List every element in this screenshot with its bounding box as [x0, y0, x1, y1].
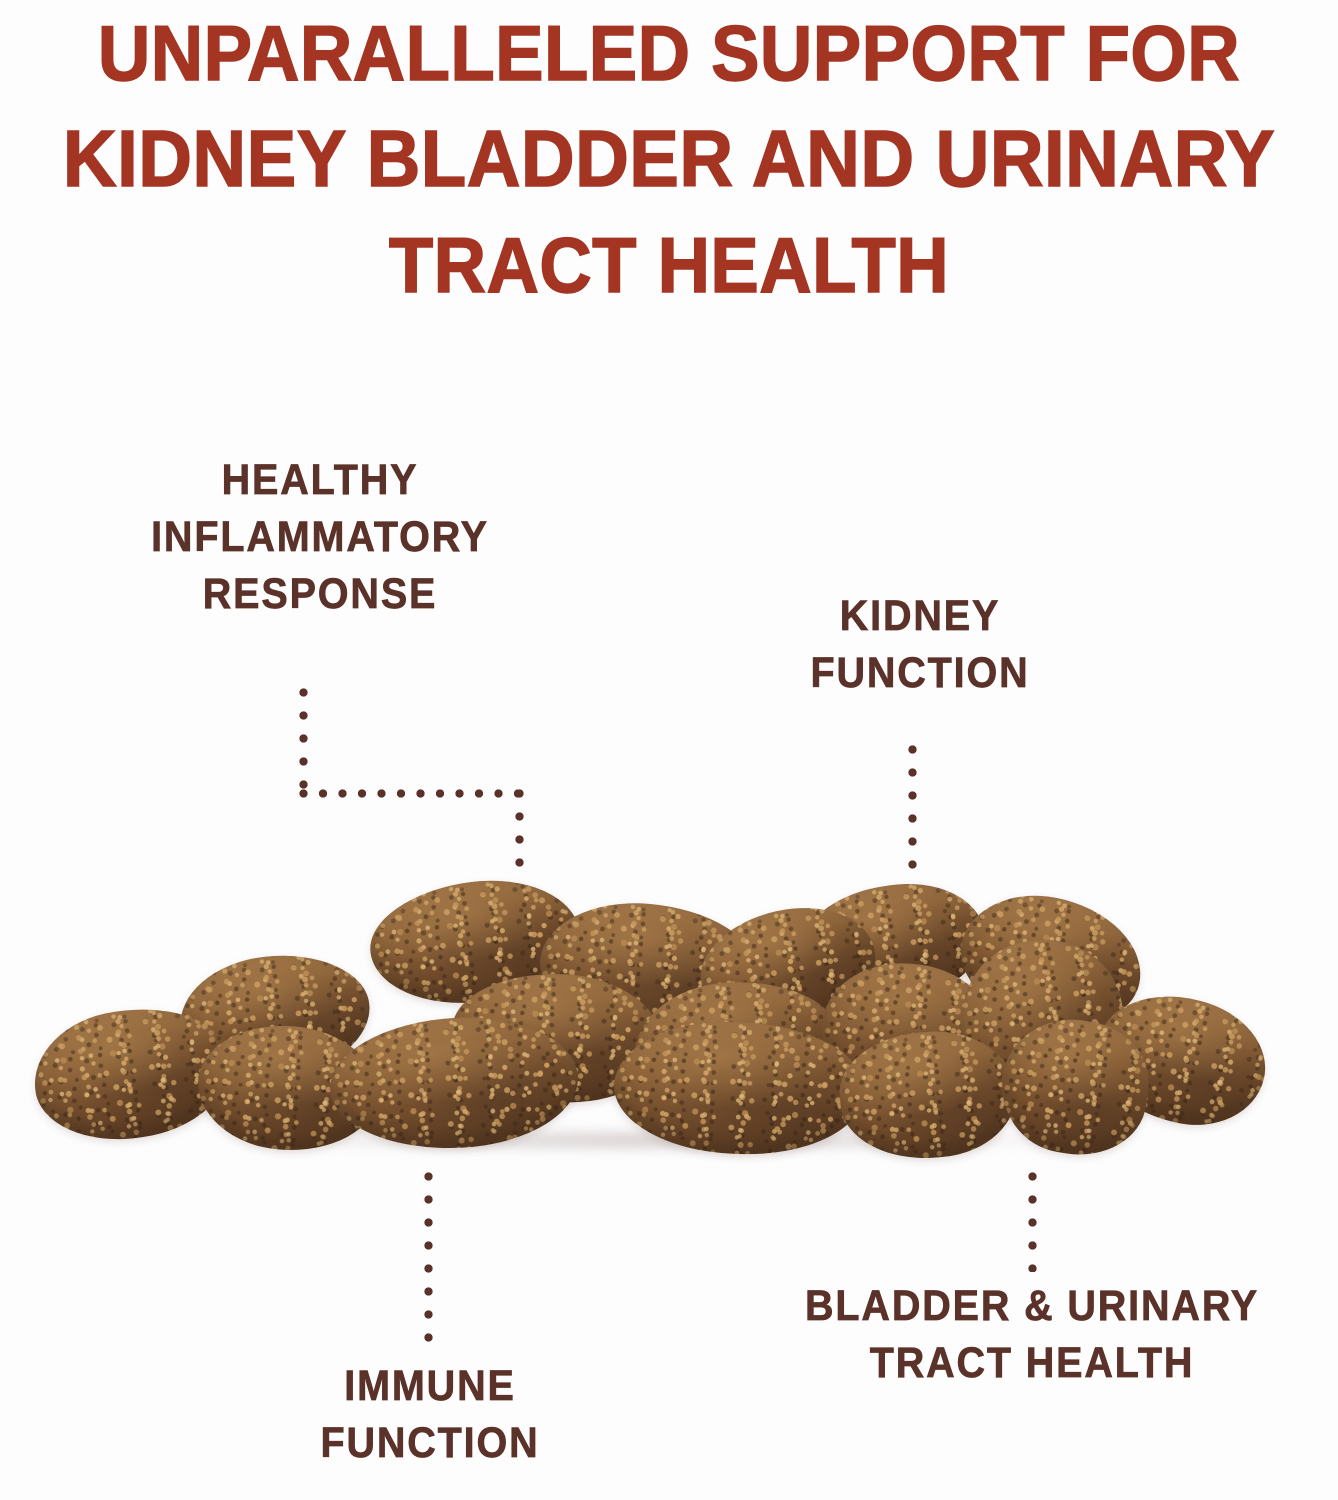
callout-line: TRACT HEALTH: [738, 1335, 1327, 1392]
marketing-infographic: UNPARALLELED SUPPORT FOR KIDNEY BLADDER …: [0, 0, 1338, 1500]
callout-immune-function: IMMUNE FUNCTION: [215, 1358, 645, 1472]
callout-line: HEALTHY: [104, 452, 536, 509]
callout-line: INFLAMMATORY: [104, 509, 536, 566]
leader-line-inflammatory-vertical-top: [299, 688, 308, 798]
callout-healthy-inflammatory-response: HEALTHY INFLAMMATORY RESPONSE: [85, 452, 555, 623]
callout-line: IMMUNE: [232, 1358, 628, 1415]
callout-line: KIDNEY: [718, 588, 1123, 645]
callout-bladder-urinary-tract-health: BLADDER & URINARY TRACT HEALTH: [712, 1278, 1338, 1392]
page-title: UNPARALLELED SUPPORT FOR KIDNEY BLADDER …: [0, 0, 1338, 318]
callout-line: FUNCTION: [718, 645, 1123, 702]
callout-line: BLADDER & URINARY: [738, 1278, 1327, 1335]
headline-line-1: UNPARALLELED SUPPORT FOR: [47, 0, 1291, 106]
leader-line-immune-function: [424, 1172, 433, 1352]
callout-line: FUNCTION: [232, 1415, 628, 1472]
kibble-pile-image: [0, 860, 1338, 1180]
callout-kidney-function: KIDNEY FUNCTION: [700, 588, 1140, 702]
leader-line-bladder-urinary: [1028, 1172, 1037, 1272]
leader-line-kidney-function: [908, 745, 917, 877]
leader-line-inflammatory-horizontal: [299, 789, 525, 798]
headline-line-2: KIDNEY BLADDER AND URINARY: [47, 106, 1291, 212]
headline-line-3: TRACT HEALTH: [47, 212, 1291, 318]
leader-line-inflammatory-vertical-bottom: [515, 789, 524, 879]
callout-line: RESPONSE: [104, 566, 536, 623]
